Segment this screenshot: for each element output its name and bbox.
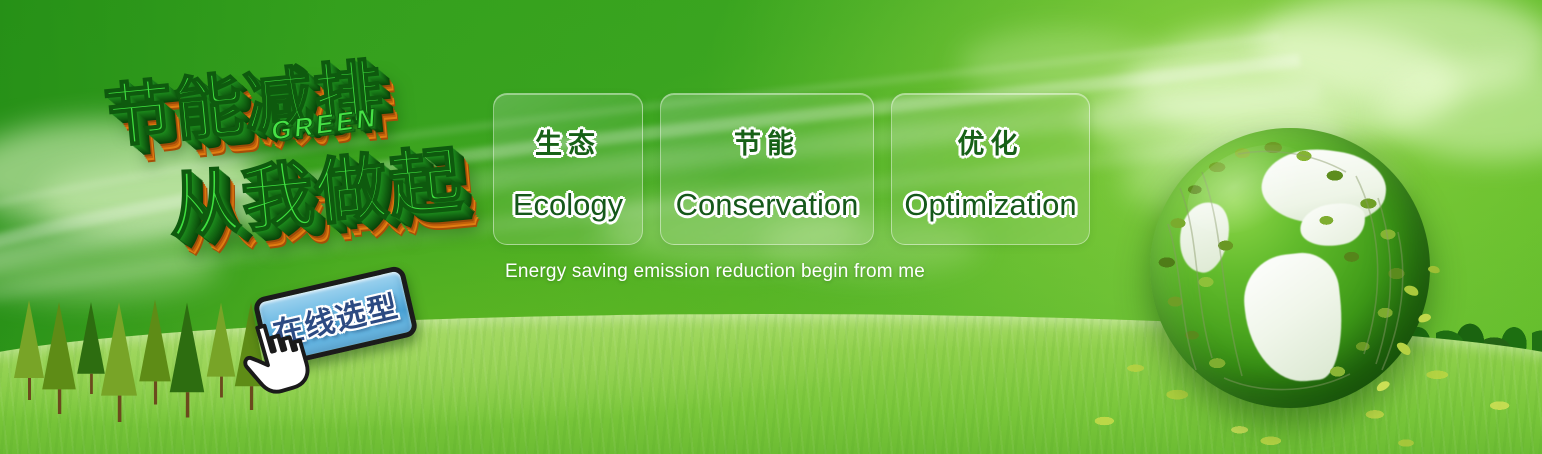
- ivy-globe-illustration: [1140, 118, 1440, 428]
- pine-tree-icon: [139, 300, 171, 405]
- feature-label-cn: 节能: [734, 122, 800, 161]
- feature-box-ecology[interactable]: 生态 Ecology: [493, 93, 643, 245]
- banner-tagline: Energy saving emission reduction begin f…: [505, 261, 925, 283]
- pine-tree-icon: [101, 302, 137, 422]
- feature-label-en: Optimization: [904, 187, 1076, 223]
- feature-label-en: Ecology: [513, 187, 623, 223]
- pine-tree-icon: [42, 302, 76, 414]
- feature-label-en: Conservation: [676, 187, 859, 223]
- pine-tree-icon: [170, 303, 205, 418]
- falling-leaf-icon: [1375, 379, 1391, 393]
- feature-label-cn: 优化: [958, 122, 1024, 161]
- feature-label-cn: 生态: [535, 122, 601, 161]
- feature-box-group: 生态 Ecology 节能 Conservation 优化 Optimizati…: [493, 93, 1090, 245]
- feature-box-optimization[interactable]: 优化 Optimization: [891, 93, 1090, 245]
- polar-shadow: [1150, 128, 1202, 154]
- eco-hero-banner: 节能减排 GREEN 从我做起 在线选型 生态 Ecology 节能 Conse…: [0, 0, 1542, 454]
- earth-globe-icon: [1150, 128, 1430, 408]
- hero-title: 节能减排 GREEN 从我做起: [94, 26, 494, 291]
- feature-box-conservation[interactable]: 节能 Conservation: [660, 93, 874, 245]
- pine-tree-icon: [14, 300, 44, 400]
- pine-tree-icon: [207, 303, 236, 398]
